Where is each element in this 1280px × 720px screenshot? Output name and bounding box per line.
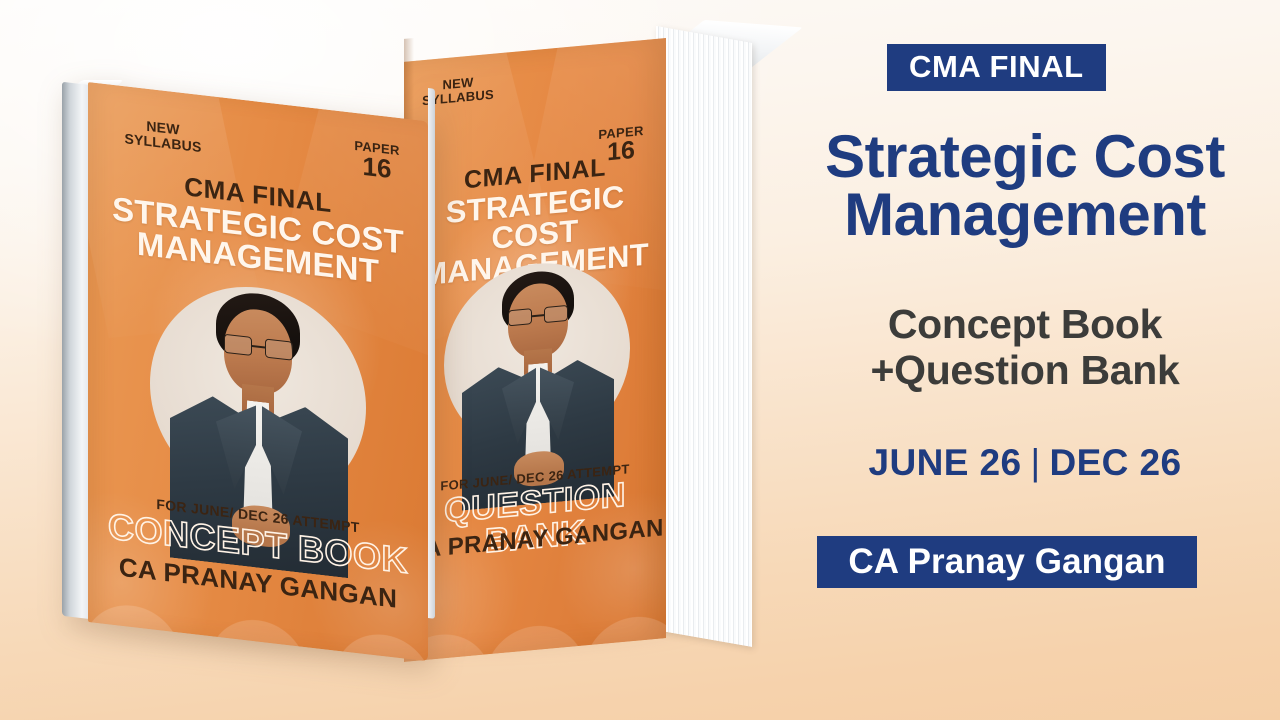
book-cover-concept-book: NEW SYLLABUS PAPER 16 CMA FINAL STRATEGI…: [88, 82, 428, 661]
page-title: Strategic Cost Management: [770, 128, 1280, 244]
portrait-glasses-right: [544, 305, 568, 323]
page-title-line2: Management: [770, 186, 1280, 244]
attempt-date-dec: DEC 26: [1049, 442, 1181, 483]
product-subtitle-line2: +Question Bank: [770, 348, 1280, 394]
product-subtitle: Concept Book +Question Bank: [770, 302, 1280, 394]
book-fore-edge: [428, 88, 435, 619]
product-subtitle-line1: Concept Book: [888, 301, 1162, 347]
promo-banner: NEW SYLLABUS PAPER 16 CMA FINAL STRATEGI…: [0, 0, 1280, 720]
book-concept-book[interactable]: NEW SYLLABUS PAPER 16 CMA FINAL STRATEGI…: [62, 82, 430, 627]
cover-portrait-circle: [444, 255, 630, 458]
portrait-glasses-right: [265, 338, 293, 360]
book-question-bank[interactable]: NEW SYLLABUS PAPER 16 CMA FINAL STRATEGI…: [404, 24, 754, 640]
attempt-separator: |: [1021, 442, 1049, 484]
portrait-glasses-left: [508, 308, 532, 326]
cover-paper-number-badge: PAPER 16: [344, 138, 410, 185]
page-title-line1: Strategic Cost: [825, 123, 1225, 190]
attempt-date-june: JUNE 26: [869, 442, 1022, 483]
badge-exam-level[interactable]: CMA FINAL: [887, 44, 1106, 91]
portrait-glasses-left: [224, 334, 252, 356]
book-page-edges: [656, 26, 752, 647]
badge-faculty-name[interactable]: CA Pranay Gangan: [817, 536, 1197, 588]
book-cover-question-bank: NEW SYLLABUS PAPER 16 CMA FINAL STRATEGI…: [404, 38, 666, 662]
attempt-dates: JUNE 26|DEC 26: [770, 442, 1280, 484]
cover-portrait-circle: [150, 275, 366, 516]
promo-text-panel: CMA FINAL Strategic Cost Management Conc…: [770, 0, 1280, 720]
